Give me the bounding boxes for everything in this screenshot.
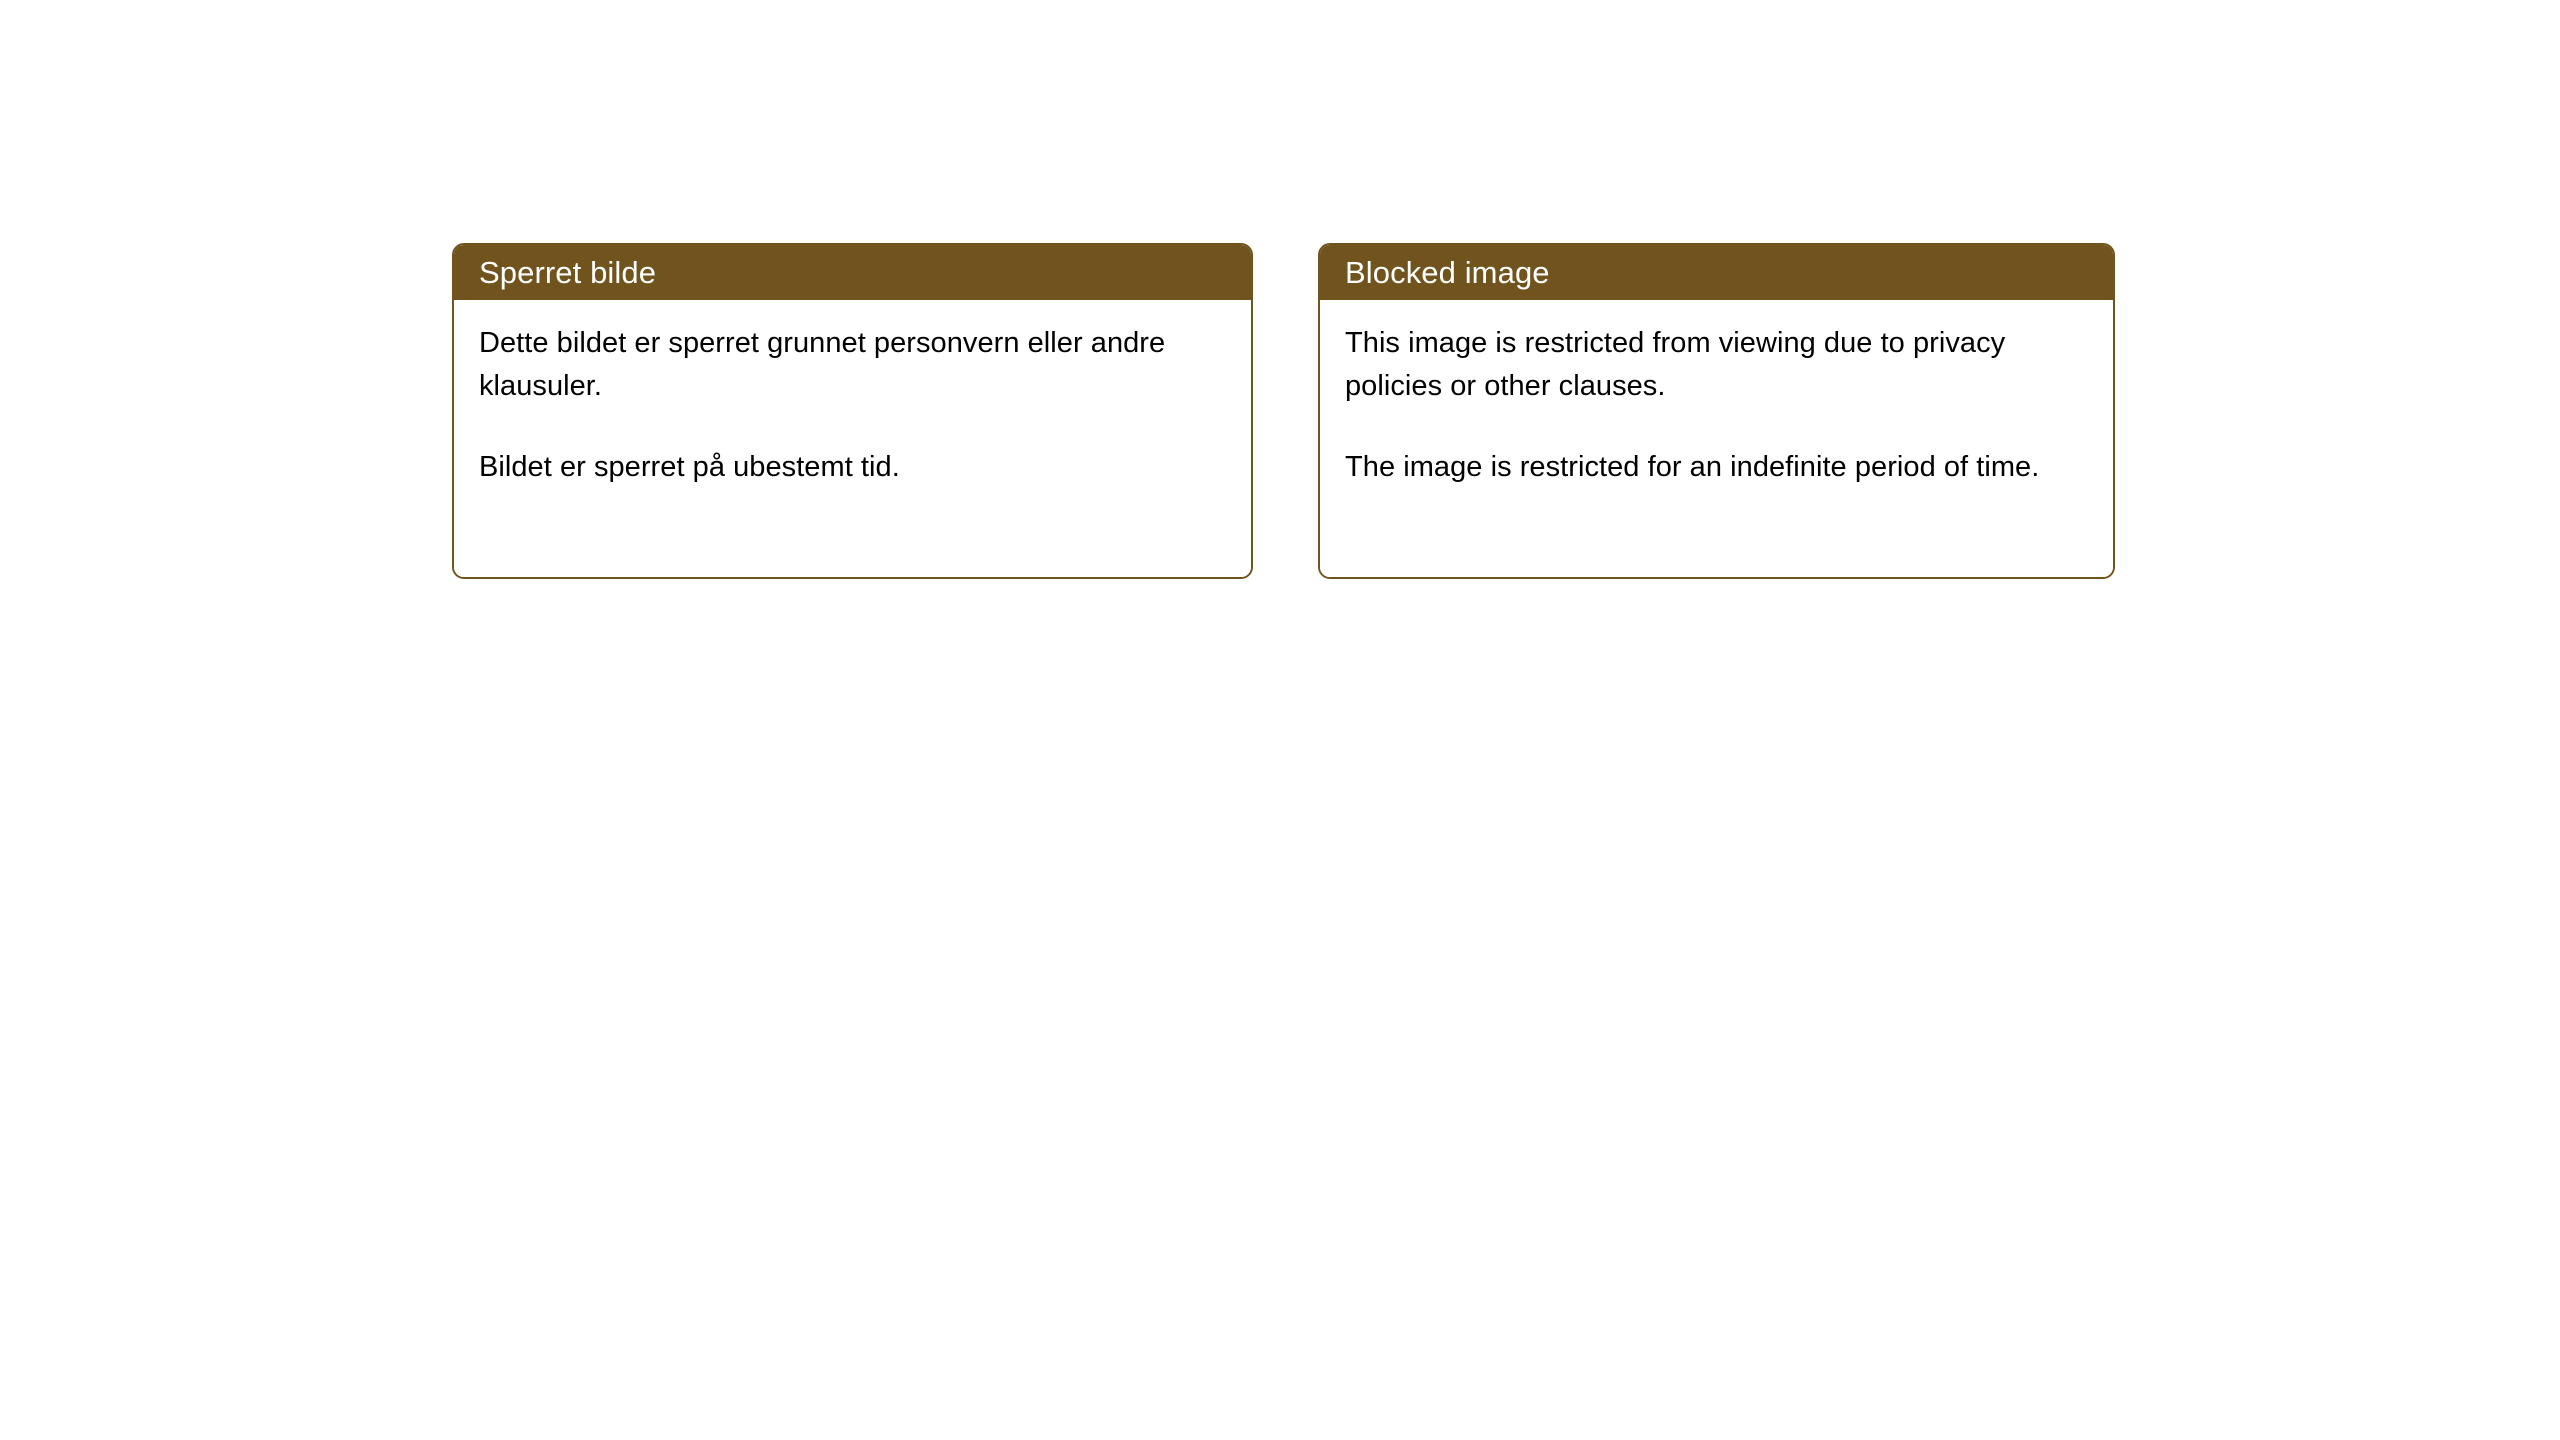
blocked-image-notice-no: Sperret bilde Dette bildet er sperret gr…	[452, 243, 1253, 579]
notice-paragraph-reason-no: Dette bildet er sperret grunnet personve…	[479, 322, 1227, 408]
paragraph-spacer-en	[1345, 408, 2089, 446]
notice-title-no: Sperret bilde	[479, 256, 656, 290]
notice-title-en: Blocked image	[1345, 256, 1550, 290]
paragraph-spacer-no	[479, 408, 1227, 446]
notice-header-en: Blocked image	[1320, 245, 2113, 300]
blocked-image-notice-en: Blocked image This image is restricted f…	[1318, 243, 2115, 579]
notice-header-no: Sperret bilde	[454, 245, 1251, 300]
notice-paragraph-duration-en: The image is restricted for an indefinit…	[1345, 446, 2089, 489]
notice-paragraph-duration-no: Bildet er sperret på ubestemt tid.	[479, 446, 1227, 489]
notice-body-en: This image is restricted from viewing du…	[1320, 300, 2113, 577]
page-canvas: Sperret bilde Dette bildet er sperret gr…	[0, 0, 2560, 1440]
notice-body-no: Dette bildet er sperret grunnet personve…	[454, 300, 1251, 577]
notice-paragraph-reason-en: This image is restricted from viewing du…	[1345, 322, 2089, 408]
